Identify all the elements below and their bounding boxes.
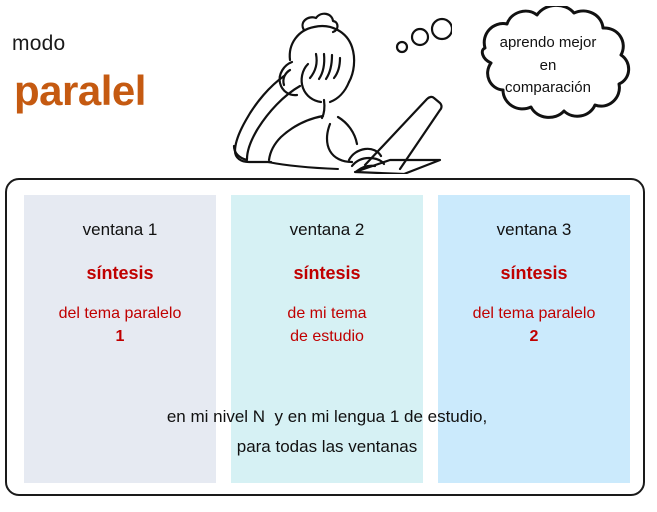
windows-panel: ventana 1 síntesis del tema paralelo 1 v… — [5, 178, 645, 496]
window-1-desc-line-1: del tema paralelo — [24, 302, 216, 325]
window-column-1[interactable]: ventana 1 síntesis del tema paralelo 1 — [24, 195, 216, 483]
bubble-line-1: aprendo mejor — [473, 32, 623, 55]
person-studying-at-laptop-icon — [212, 4, 452, 174]
window-2-desc-line-1: de mi tema — [231, 302, 423, 325]
window-3-desc-line-2: 2 — [438, 325, 630, 348]
thought-bubble-text: aprendo mejor en comparación — [473, 32, 623, 100]
window-1-title: ventana 1 — [24, 221, 216, 238]
window-2-synthesis: síntesis — [231, 264, 423, 282]
window-3-desc-line-1: del tema paralelo — [438, 302, 630, 325]
window-3-synthesis: síntesis — [438, 264, 630, 282]
window-1-description: del tema paralelo 1 — [24, 302, 216, 348]
window-1-synthesis: síntesis — [24, 264, 216, 282]
window-column-2[interactable]: ventana 2 síntesis de mi tema de estudio — [231, 195, 423, 483]
bubble-line-3: comparación — [473, 77, 623, 100]
windows-columns: ventana 1 síntesis del tema paralelo 1 v… — [24, 195, 630, 483]
thought-bubble-icon: aprendo mejor en comparación — [445, 6, 650, 131]
window-column-3[interactable]: ventana 3 síntesis del tema paralelo 2 — [438, 195, 630, 483]
window-1-desc-line-2: 1 — [24, 325, 216, 348]
window-3-title: ventana 3 — [438, 221, 630, 238]
mode-title: paralel — [14, 70, 146, 112]
bubble-line-2: en — [473, 55, 623, 78]
window-2-desc-line-2: de estudio — [231, 325, 423, 348]
window-2-title: ventana 2 — [231, 221, 423, 238]
header-region: modo paralel — [0, 0, 657, 172]
window-3-description: del tema paralelo 2 — [438, 302, 630, 348]
window-2-description: de mi tema de estudio — [231, 302, 423, 348]
mode-label: modo — [12, 33, 65, 54]
